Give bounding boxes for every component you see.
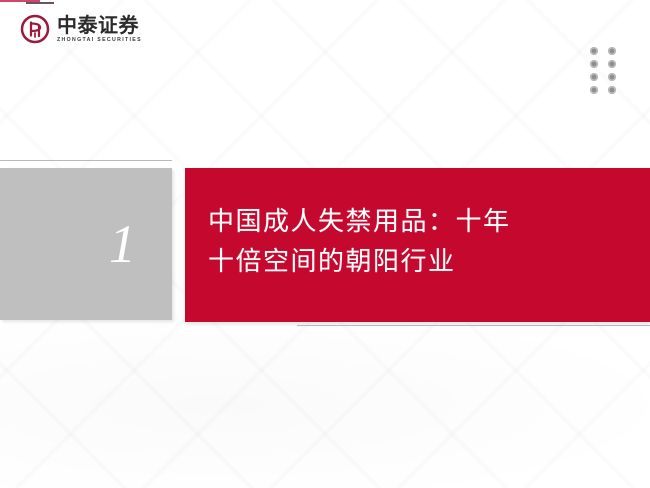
section-title-text: 中国成人失禁用品：十年 十倍空间的朝阳行业 [185, 203, 511, 286]
section-number: 1 [109, 217, 136, 271]
top-accent-strip [0, 0, 54, 4]
zhongtai-circle-emblem-icon [20, 14, 50, 44]
grid-dot [608, 47, 616, 55]
company-logo: 中泰证券 ZHONGTAI SECURITIES [20, 14, 142, 44]
background-gradient-glow [0, 300, 650, 488]
presentation-slide: 中泰证券 ZHONGTAI SECURITIES 1 中国成人失禁用品：十年 十… [0, 0, 650, 488]
left-divider-line [0, 160, 172, 161]
grid-dot [608, 60, 616, 68]
decorative-dot-grid [590, 47, 617, 99]
grid-dot [608, 86, 616, 94]
grid-dot [590, 73, 598, 81]
grid-dot [590, 86, 598, 94]
grid-dot [590, 47, 598, 55]
logo-english-name: ZHONGTAI SECURITIES [57, 38, 142, 43]
section-number-panel: 1 [0, 168, 172, 320]
bottom-divider-line [297, 325, 650, 326]
grid-dot [590, 60, 598, 68]
logo-wordmark: 中泰证券 ZHONGTAI SECURITIES [57, 15, 142, 43]
section-title-banner: 中国成人失禁用品：十年 十倍空间的朝阳行业 [185, 168, 650, 322]
logo-chinese-name: 中泰证券 [57, 15, 142, 35]
accent-strip-dark [26, 2, 54, 4]
grid-dot [608, 73, 616, 81]
